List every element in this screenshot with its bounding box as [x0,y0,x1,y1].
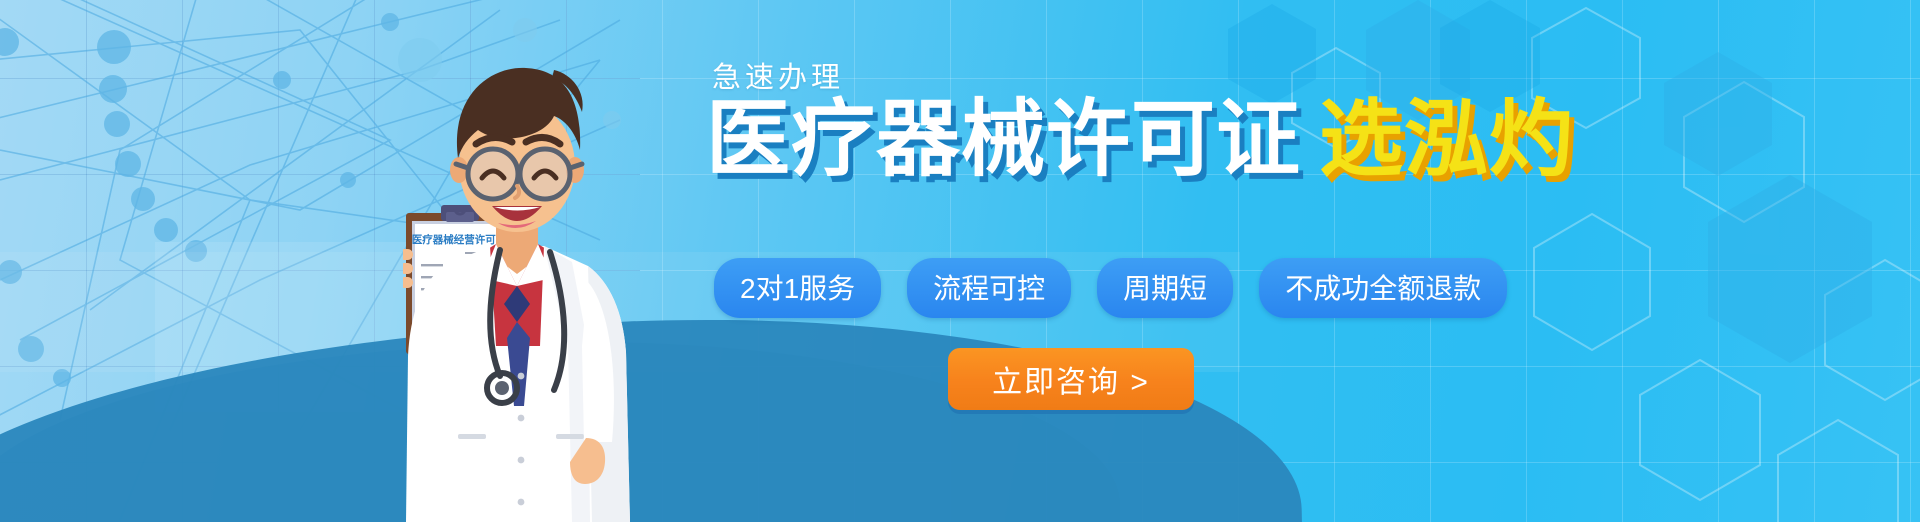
feature-pill[interactable]: 不成功全额退款 [1259,258,1507,318]
banner-headline: 医疗器械许可证选泓灼 [706,97,1574,181]
promo-banner: 医疗器械经营许可证 [0,0,1920,522]
consult-now-button[interactable]: 立即咨询 > [948,348,1194,410]
headline-accent: 选泓灼 [1319,92,1574,186]
banner-eyebrow: 急速办理 [712,54,844,96]
feature-pill[interactable]: 周期短 [1097,258,1233,318]
feature-pill[interactable]: 2对1服务 [714,258,881,318]
feature-pill-list: 2对1服务 流程可控 周期短 不成功全额退款 [714,258,1507,318]
headline-primary: 医疗器械许可证 [706,92,1301,186]
feature-pill[interactable]: 流程可控 [907,258,1071,318]
